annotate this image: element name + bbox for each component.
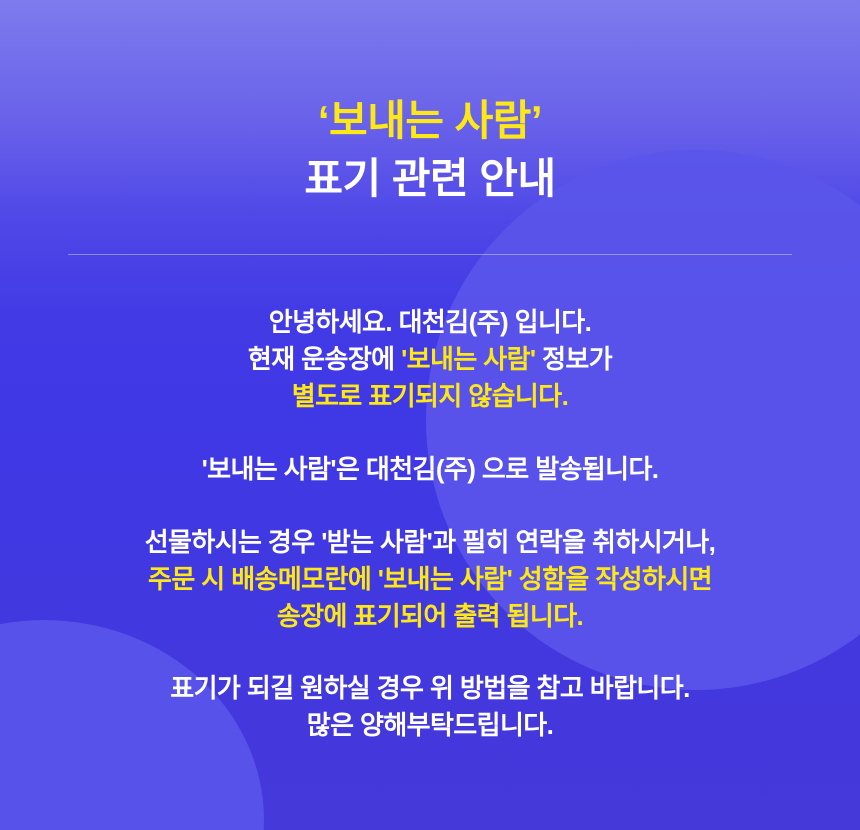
paragraph-greeting: 안녕하세요. 대천김(주) 입니다. 현재 운송장에 '보내는 사람' 정보가 … (0, 304, 860, 415)
body-line-mixed: 현재 운송장에 '보내는 사람' 정보가 (0, 341, 860, 378)
body-line: 표기가 되길 원하실 경우 위 방법을 참고 바랍니다. (0, 670, 860, 707)
body-line: 별도로 표기되지 않습니다. (0, 378, 860, 415)
body-line-segment-white-tail: 정보가 (535, 344, 612, 374)
notice-card: ‘보내는 사람’ 표기 관련 안내 안녕하세요. 대천김(주) 입니다. 현재 … (0, 0, 860, 830)
body-line: 주문 시 배송메모란에 '보내는 사람' 성함을 작성하시면 (0, 561, 860, 598)
paragraph-closing: 표기가 되길 원하실 경우 위 방법을 참고 바랍니다. 많은 양해부탁드립니다… (0, 670, 860, 744)
page-title: ‘보내는 사람’ 표기 관련 안내 (0, 0, 860, 207)
body-line: 안녕하세요. 대천김(주) 입니다. (0, 304, 860, 341)
body-line: 선물하시는 경우 '받는 사람'과 필히 연락을 취하시거나, (0, 524, 860, 561)
notice-content: ‘보내는 사람’ 표기 관련 안내 안녕하세요. 대천김(주) 입니다. 현재 … (0, 0, 860, 830)
body-line: 많은 양해부탁드립니다. (0, 707, 860, 744)
body-line: '보내는 사람'은 대천김(주) 으로 발송됩니다. (0, 451, 860, 488)
body-line: 송장에 표기되어 출력 됩니다. (0, 598, 860, 635)
body-line-segment-yellow: '보내는 사람' (401, 344, 535, 374)
title-line-accent: ‘보내는 사람’ (0, 92, 860, 150)
body-line-segment-white: 현재 운송장에 (248, 344, 401, 374)
paragraph-gift-instructions: 선물하시는 경우 '받는 사람'과 필히 연락을 취하시거나, 주문 시 배송메… (0, 524, 860, 635)
notice-body: 안녕하세요. 대천김(주) 입니다. 현재 운송장에 '보내는 사람' 정보가 … (0, 304, 860, 744)
divider (68, 254, 792, 255)
paragraph-sender-default: '보내는 사람'은 대천김(주) 으로 발송됩니다. (0, 451, 860, 488)
title-line-main: 표기 관련 안내 (0, 150, 860, 208)
